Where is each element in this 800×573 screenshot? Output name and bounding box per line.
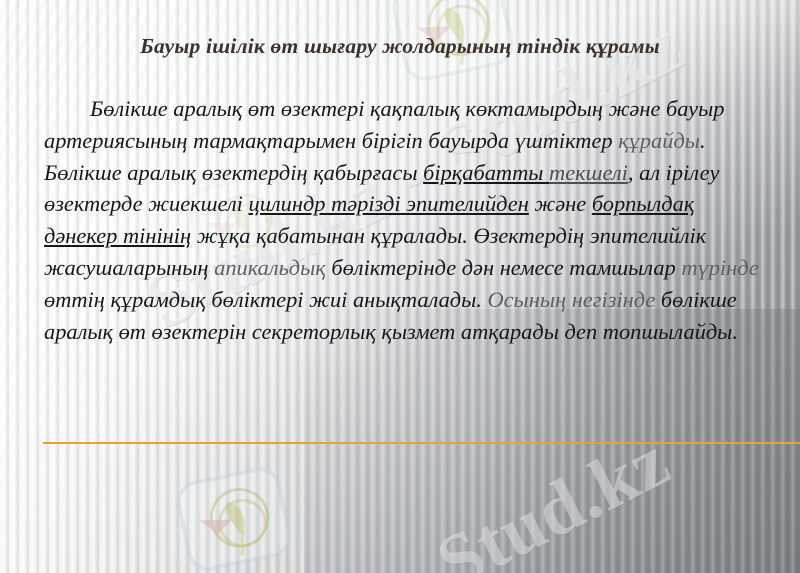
slide-title: Бауыр ішілік өт шығару жолдарының тіндік… <box>0 34 800 59</box>
accent-divider-rule <box>43 442 800 444</box>
body-text-segment-13: өттің құрамдық бөліктері жиі анықталады. <box>44 287 487 312</box>
body-text-segment-6: цилиндр тәрізді эпителийден <box>249 191 529 216</box>
body-paragraph: Бөлікше аралық өт өзектері қақпалық көкт… <box>44 93 770 347</box>
slide-body: Бөлікше аралық өт өзектері қақпалық көкт… <box>44 93 770 347</box>
body-text-segment-1: құрайды <box>618 128 700 153</box>
body-text-segment-14: Осының негізінде <box>487 287 655 312</box>
body-text-segment-11: бөліктерінде дән немесе тамшылар <box>326 255 682 280</box>
slide-content: Бауыр ішілік өт шығару жолдарының тіндік… <box>0 0 800 573</box>
body-text-segment-12: түрінде <box>681 255 758 280</box>
body-text-segment-10: апикальдық <box>214 255 326 280</box>
body-text-segment-4: текшелі <box>549 160 628 185</box>
presentation-slide: Stud.kz - Stud.kz Stud.kz Бау <box>0 0 800 573</box>
body-text-segment-3: бірқабатты <box>423 160 549 185</box>
body-text-segment-7: және <box>529 191 592 216</box>
